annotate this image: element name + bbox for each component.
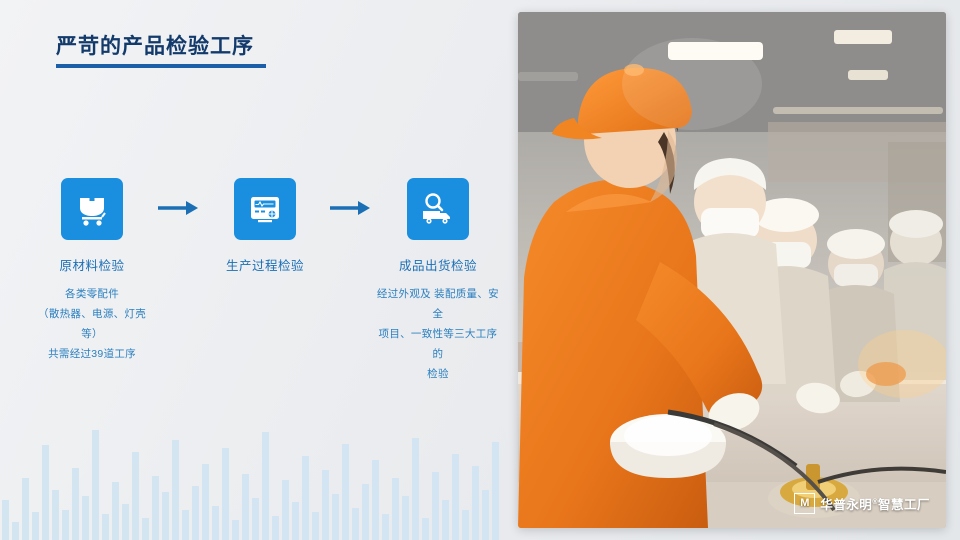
decorative-bar (392, 478, 399, 540)
decorative-bar (312, 512, 319, 540)
decorative-bar (182, 510, 189, 540)
decorative-bar (162, 492, 169, 540)
flow-step-desc-line: （散热器、电源、灯壳等） (30, 304, 154, 344)
logo-text: 华普永明®智慧工厂 (820, 494, 930, 513)
decorative-bar (302, 456, 309, 540)
production-monitor-icon (234, 178, 296, 240)
decorative-bar (222, 448, 229, 540)
decorative-bar (482, 490, 489, 540)
flow-step-label: 成品出货检验 (376, 255, 500, 274)
decorative-bar (12, 522, 19, 540)
decorative-bar (432, 472, 439, 540)
decorative-bar (142, 518, 149, 540)
flow-step-shipping: 成品出货检验 经过外观及 装配质量、安全 项目、一致性等三大工序的 检验 (376, 178, 500, 384)
decorative-bar (272, 516, 279, 540)
factory-workers-inspection-line-photo (518, 12, 946, 528)
process-flow-row: 原材料检验 各类零配件 （散热器、电源、灯壳等） 共需经过39道工序 (30, 178, 500, 384)
right-arrow-icon (154, 178, 203, 216)
decorative-bar (342, 444, 349, 540)
decorative-bar (242, 474, 249, 540)
flow-step-label: 原材料检验 (30, 255, 154, 274)
decorative-bar (352, 508, 359, 540)
decorative-bar (102, 514, 109, 540)
decorative-bar (22, 478, 29, 540)
decorative-bar (362, 484, 369, 540)
decorative-bar (112, 482, 119, 540)
decorative-bar (152, 476, 159, 540)
decorative-bar (172, 440, 179, 540)
decorative-bar (382, 514, 389, 540)
shipping-truck-search-icon (407, 178, 469, 240)
decorative-bar (32, 512, 39, 540)
decorative-bar (42, 445, 49, 540)
decorative-bar (282, 480, 289, 540)
decorative-bar (62, 510, 69, 540)
right-arrow-icon (327, 178, 376, 216)
flow-step-desc: 各类零配件 （散热器、电源、灯壳等） 共需经过39道工序 (30, 284, 154, 364)
brand-logo: M 华普永明®智慧工厂 (794, 493, 930, 514)
decorative-bar (452, 454, 459, 540)
flow-step-desc-line: 检验 (376, 364, 500, 384)
decorative-bar (192, 486, 199, 540)
flow-step-desc: 经过外观及 装配质量、安全 项目、一致性等三大工序的 检验 (376, 284, 500, 384)
decorative-bar (92, 430, 99, 540)
material-inspection-cart-icon (61, 178, 123, 240)
page-title-wrap: 严苛的产品检验工序 (56, 30, 266, 68)
decorative-bar (402, 496, 409, 540)
decorative-bar-graphic (0, 390, 520, 540)
decorative-bar (2, 500, 9, 540)
flow-step-desc-line: 经过外观及 装配质量、安全 (376, 284, 500, 324)
decorative-bar (232, 520, 239, 540)
slide: 严苛的产品检验工序 原材料检验 各类零配件 (0, 0, 960, 540)
flow-step-desc-line: 项目、一致性等三大工序的 (376, 324, 500, 364)
decorative-bar (492, 442, 499, 540)
decorative-bar (252, 498, 259, 540)
decorative-bar (372, 460, 379, 540)
decorative-bar (212, 506, 219, 540)
title-underline (56, 64, 266, 68)
flow-step-production: 生产过程检验 (203, 178, 327, 274)
decorative-bar (322, 470, 329, 540)
decorative-bar (82, 496, 89, 540)
decorative-bar (472, 466, 479, 540)
decorative-bar (462, 510, 469, 540)
flow-step-desc-line: 共需经过39道工序 (30, 344, 154, 364)
process-flow: 原材料检验 各类零配件 （散热器、电源、灯壳等） 共需经过39道工序 (30, 178, 500, 384)
decorative-bar (292, 502, 299, 540)
decorative-bar (72, 468, 79, 540)
flow-step-desc-line: 各类零配件 (30, 284, 154, 304)
logo-brand-name: 华普永明 (820, 498, 872, 512)
logo-suffix: 智慧工厂 (878, 498, 930, 512)
flow-step-material: 原材料检验 各类零配件 （散热器、电源、灯壳等） 共需经过39道工序 (30, 178, 154, 364)
decorative-bar (202, 464, 209, 540)
decorative-bar (412, 438, 419, 540)
logo-mark-icon: M (794, 493, 815, 514)
factory-photo: M 华普永明®智慧工厂 (518, 12, 946, 528)
decorative-bar (132, 452, 139, 540)
page-title: 严苛的产品检验工序 (56, 30, 266, 60)
decorative-bar (122, 504, 129, 540)
decorative-bar (262, 432, 269, 540)
decorative-bar (332, 494, 339, 540)
decorative-bar (442, 500, 449, 540)
decorative-bar (52, 490, 59, 540)
decorative-bar (422, 518, 429, 540)
flow-step-label: 生产过程检验 (203, 255, 327, 274)
